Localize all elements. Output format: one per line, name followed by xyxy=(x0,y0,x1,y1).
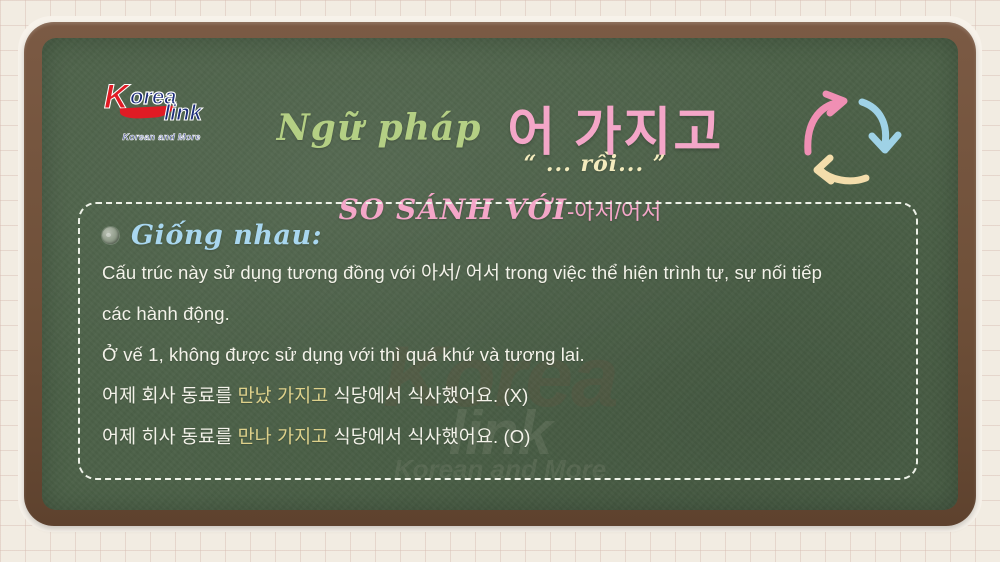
chalkboard-surface: Korea link Korean and More K orea link K… xyxy=(42,38,958,510)
body-text: Cấu trúc này sử dụng tương đồng với 아서/ … xyxy=(102,262,822,283)
decorative-arrows xyxy=(800,80,920,190)
body-text: các hành động. xyxy=(102,303,230,324)
body-line: Ở vế 1, không được sử dụng với thì quá k… xyxy=(102,341,894,369)
body-line: Cấu trúc này sử dụng tương đồng với 아서/ … xyxy=(102,259,894,287)
page-title-vietnamese: Ngữ pháp xyxy=(277,107,482,149)
arrow-down-blue-icon xyxy=(862,102,898,150)
body-line: 어제 회사 동료를 만났 가지고 식당에서 식사했어요. (X) xyxy=(102,382,894,410)
body-line: 어제 히사 동료를 만나 가지고 식당에서 식사했어요. (O) xyxy=(102,423,894,451)
highlighted-text: 만났 가지고 xyxy=(238,385,329,406)
arrow-up-right-pink-icon xyxy=(808,94,844,152)
body-text: Ở vế 1, không được sử dụng với thì quá k… xyxy=(102,344,585,365)
body-text: 어제 회사 동료를 xyxy=(102,385,238,406)
body-text: 식당에서 식사했어요. (O) xyxy=(328,426,530,447)
content-dashed-box: Giống nhau: Cấu trúc này sử dụng tương đ… xyxy=(78,202,918,480)
arrow-left-cream-icon xyxy=(817,158,866,181)
section-header: Giống nhau: xyxy=(102,220,894,251)
body-text: 어제 히사 동료를 xyxy=(102,426,238,447)
body-text-block: Cấu trúc này sử dụng tương đồng với 아서/ … xyxy=(102,259,894,452)
body-line: các hành động. xyxy=(102,300,894,328)
section-title: Giống nhau: xyxy=(131,220,322,251)
body-text: 식당에서 식사했어요. (X) xyxy=(328,385,528,406)
circle-icon xyxy=(102,227,119,244)
highlighted-text: 만나 가지고 xyxy=(238,426,329,447)
